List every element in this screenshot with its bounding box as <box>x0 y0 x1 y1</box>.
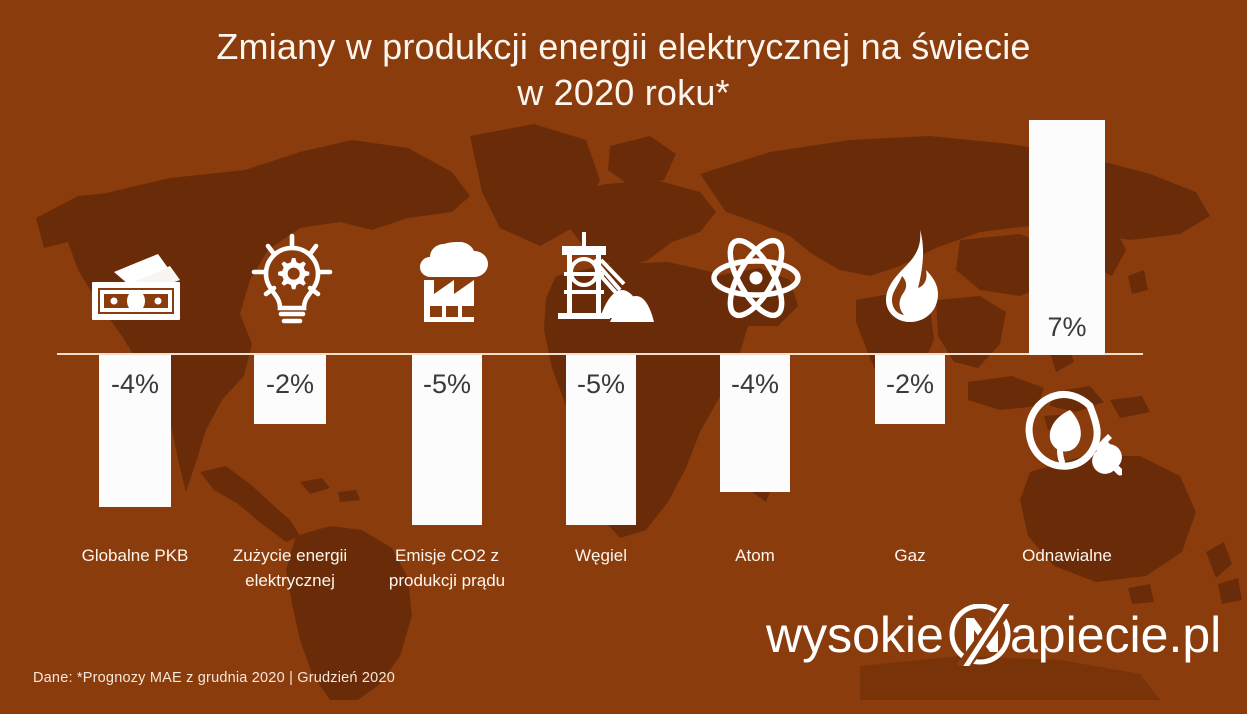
leaf-plug-icon <box>1018 386 1122 486</box>
bar-label-line-1: Węgiel <box>575 546 627 565</box>
bar-label-line-2: produkcji prądu <box>389 571 505 590</box>
bar-odnawialne[interactable]: 7% <box>1029 120 1105 355</box>
bar-gaz[interactable]: -2% <box>875 355 945 424</box>
bar-label-line-1: Emisje CO2 z <box>395 546 499 565</box>
logo-text-right: apiecie.pl <box>1010 607 1221 663</box>
bar-value-wegiel: -5% <box>566 371 636 398</box>
bar-value-globalne-pkb: -4% <box>99 371 171 398</box>
logo-text-left: wysokie <box>766 607 944 663</box>
bar-label-line-1: Odnawialne <box>1022 546 1112 565</box>
bar-globalne-pkb[interactable]: -4% <box>99 355 171 507</box>
lightbulb-gear-icon <box>250 232 334 328</box>
banknotes-icon <box>84 252 188 322</box>
bar-label-line-1: Globalne PKB <box>82 546 189 565</box>
bar-value-gaz: -2% <box>875 371 945 398</box>
bar-label-line-2: elektrycznej <box>245 571 335 590</box>
factory-smoke-icon <box>410 236 498 328</box>
source-footer: Dane: *Prognozy MAE z grudnia 2020 | Gru… <box>33 670 395 686</box>
logo-monogram-icon <box>952 604 1012 666</box>
flame-icon <box>876 228 946 324</box>
bar-value-emisje-co2: -5% <box>412 371 482 398</box>
bar-value-odnawialne: 7% <box>1029 314 1105 341</box>
bar-value-zuzycie-energii: -2% <box>254 371 326 398</box>
bar-label-odnawialne: Odnawialne <box>967 543 1167 568</box>
bar-zuzycie-energii[interactable]: -2% <box>254 355 326 424</box>
logo-wysokienapiecie[interactable]: wysokie apiecie.pl <box>766 604 1226 666</box>
bar-value-atom: -4% <box>720 371 790 398</box>
bar-wegiel[interactable]: -5% <box>566 355 636 525</box>
mine-shaft-coal-icon <box>548 230 654 330</box>
bar-label-line-1: Atom <box>735 546 775 565</box>
bar-label-line-1: Zużycie energii <box>233 546 347 565</box>
bar-atom[interactable]: -4% <box>720 355 790 492</box>
atom-icon <box>710 232 802 324</box>
bar-label-line-1: Gaz <box>894 546 925 565</box>
infographic-canvas: Zmiany w produkcji energii elektrycznej … <box>0 0 1247 714</box>
bar-emisje-co2[interactable]: -5% <box>412 355 482 525</box>
